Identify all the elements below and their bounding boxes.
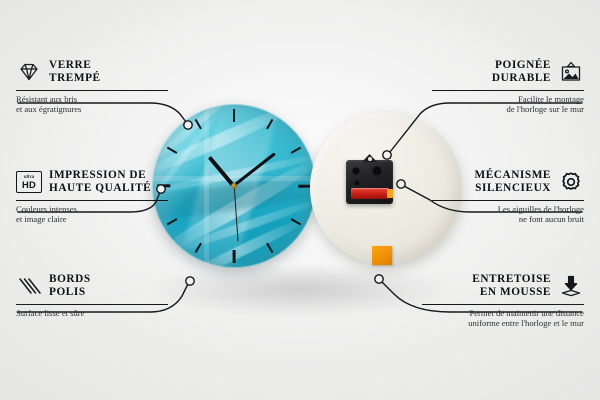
feature-mecanisme-silencieux: MÉCANISME SILENCIEUX Les aiguilles de l'…: [432, 167, 584, 225]
connector-node-mecanisme: [397, 180, 405, 188]
feature-bords-polis: BORDS POLIS Surface lisse et sûre: [16, 271, 168, 318]
foam-spacer-arrow-icon: [558, 273, 584, 299]
feature-divider: [432, 90, 584, 91]
hanging-frame-icon: [558, 59, 584, 85]
gear-icon: [558, 169, 584, 195]
feature-impression-haute-qualite: ultra HD IMPRESSION DE HAUTE QUALITÉ Cou…: [16, 167, 168, 225]
diamond-icon: [16, 59, 42, 85]
feature-title: MÉCANISME SILENCIEUX: [475, 169, 552, 194]
feature-divider: [432, 200, 584, 201]
connector-node-poignee: [383, 151, 391, 159]
feature-description: Facilite le montage de l'horloge sur le …: [432, 94, 584, 115]
feature-description: Couleurs intenses et image claire: [16, 204, 168, 225]
feature-description: Surface lisse et sûre: [16, 308, 168, 318]
feature-description: Les aiguilles de l'horloge ne font aucun…: [432, 204, 584, 225]
feature-title: VERRE TREMPÉ: [49, 59, 101, 84]
connector-node-bords-polis: [186, 277, 194, 285]
connector-node-entretoise: [375, 275, 383, 283]
feature-title: POIGNÉE DURABLE: [492, 59, 551, 84]
feature-description: Résistant aux bris et aux égratignures: [16, 94, 168, 115]
feature-divider: [16, 90, 168, 91]
ultra-hd-badge-icon: ultra HD: [16, 169, 42, 195]
feature-divider: [16, 200, 168, 201]
connector-node-verre-trempe: [184, 121, 192, 129]
feature-entretoise-en-mousse: ENTRETOISE EN MOUSSE Permet de maintenir…: [422, 271, 584, 329]
feature-description: Permet de maintenir une distance uniform…: [422, 308, 584, 329]
feature-title: IMPRESSION DE HAUTE QUALITÉ: [49, 169, 151, 194]
feature-divider: [422, 304, 584, 305]
feature-poignee-durable: POIGNÉE DURABLE Facilite le montage de l…: [432, 57, 584, 115]
product-infographic: VERRE TREMPÉ Résistant aux bris et aux é…: [0, 0, 600, 400]
feature-divider: [16, 304, 168, 305]
ultra-hd-badge-main: HD: [22, 180, 36, 189]
feature-verre-trempe: VERRE TREMPÉ Résistant aux bris et aux é…: [16, 57, 168, 115]
feature-title: BORDS POLIS: [49, 273, 91, 298]
polished-edges-icon: [16, 273, 42, 299]
feature-title: ENTRETOISE EN MOUSSE: [472, 273, 551, 298]
